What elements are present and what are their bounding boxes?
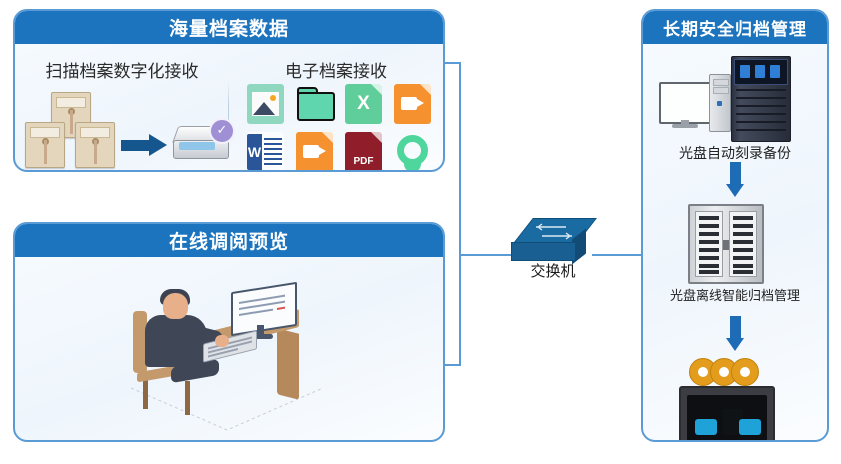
right-arrow-icon [121,134,167,156]
panel-body-mass: 扫描档案数字化接收 电子档案接收 ✓ [15,44,443,170]
video-file-icon-2 [296,132,333,172]
pdf-file-icon: PDF [345,132,382,172]
archive-box-icon [75,122,115,168]
switch-arrow-glyphs [532,223,576,241]
disc-batch-tester-icon [679,386,775,442]
network-switch-label: 交换机 [508,260,598,281]
archive-step-offline: 光盘离线智能归档管理 [643,204,827,304]
panel-body-archive: 光盘自动刻录备份 [643,44,827,440]
scan-flow-group: ✓ [23,92,228,170]
down-arrow-icon-1 [726,162,744,197]
disc-burner-server-icon [731,56,791,142]
check-badge-icon: ✓ [209,118,235,144]
archive-step-burn: 光盘自动刻录备份 [643,52,827,156]
image-file-icon [247,84,284,124]
panel-online-preview: 在线调阅预览 [13,222,445,442]
column-title-electronic: 电子档案接收 [229,57,443,82]
panel-body-online [15,257,443,440]
archive-step-label-burn: 光盘自动刻录备份 [643,143,827,163]
offline-cabinet-icon [688,204,764,284]
diagram-canvas: 海量档案数据 扫描档案数字化接收 电子档案接收 ✓ [0,0,841,464]
panel-title-mass: 海量档案数据 [169,14,289,41]
connector-vertical-bus [459,62,461,366]
archive-box-icon [25,122,65,168]
connector-bottom-stub [445,364,461,366]
optical-discs-icon [689,358,759,384]
webcam-icon [394,132,431,172]
excel-file-icon: X [345,84,382,124]
desk-leg [277,328,299,399]
panel-title-archive: 长期安全归档管理 [663,15,807,40]
word-file-icon: W [247,132,284,172]
network-switch: 交换机 [508,218,598,280]
down-arrow-icon-2 [726,316,744,351]
panel-header-mass: 海量档案数据 [15,11,443,44]
person-head [163,293,188,319]
panel-header-online: 在线调阅预览 [15,224,443,257]
file-type-icon-grid: X W PDF [247,84,437,172]
column-title-scan: 扫描档案数字化接收 [15,57,229,82]
panel-title-online: 在线调阅预览 [169,227,289,254]
scanner-icon: ✓ [173,122,229,162]
archive-step-label-offline: 光盘离线智能归档管理 [643,285,827,304]
person-hand [215,335,229,347]
column-titles: 扫描档案数字化接收 电子档案接收 [15,57,443,82]
archive-step-test: 光盘批量自动检测 [643,358,827,442]
video-file-icon [394,84,431,124]
person-at-desk-illustration [127,281,335,441]
panel-long-term-archive: 长期安全归档管理 [641,9,829,442]
workstation-icon [659,74,725,130]
chair-leg [185,381,190,415]
panel-mass-archive-data: 海量档案数据 扫描档案数字化接收 电子档案接收 ✓ [13,9,445,172]
panel-header-archive: 长期安全归档管理 [643,11,827,44]
connector-to-switch-right [592,254,641,256]
folder-icon [296,84,333,124]
